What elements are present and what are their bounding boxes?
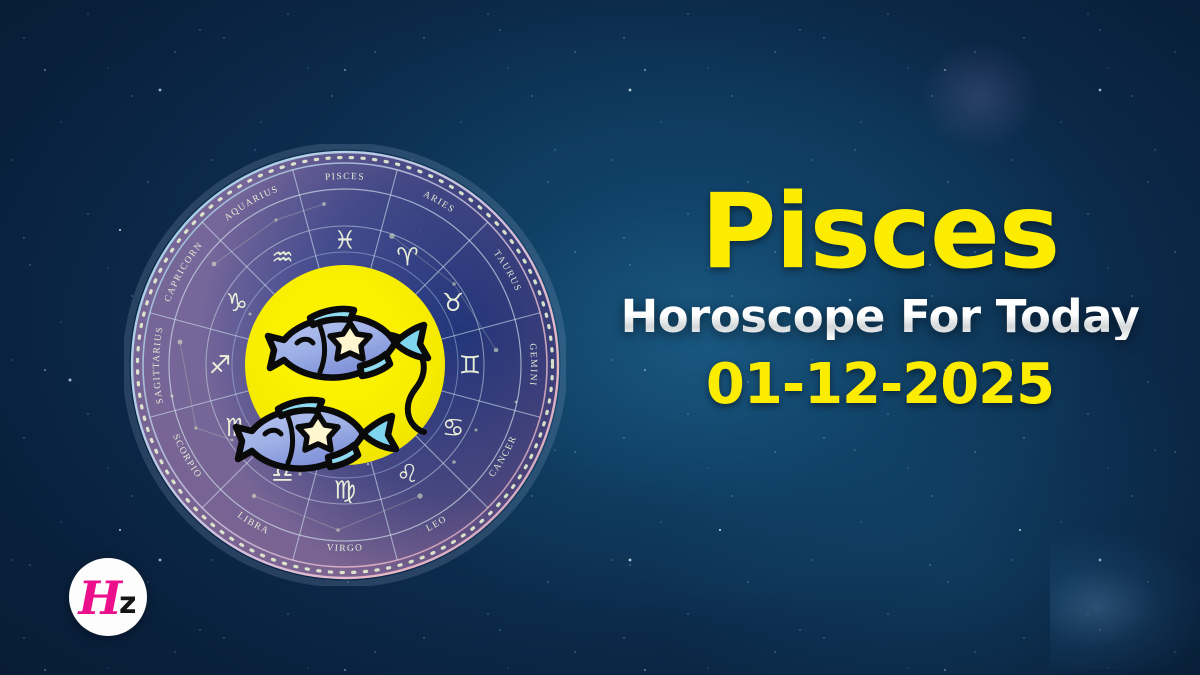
wheel-sign-glyph-aquarius: ♒: [271, 242, 293, 271]
page-title: Pisces: [600, 180, 1160, 285]
hz-logo[interactable]: Hz: [69, 558, 147, 636]
wheel-sign-glyph-pisces: ♓: [334, 226, 356, 255]
wheel-sign-glyph-capricorn: ♑: [226, 288, 248, 317]
banner-date: 01-12-2025: [600, 356, 1160, 415]
wheel-sign-glyph-virgo: ♍: [334, 476, 356, 505]
banner-text-block: Pisces Horoscope For Today 01-12-2025: [600, 180, 1160, 415]
wheel-sign-glyph-cancer: ♋: [442, 413, 464, 442]
wheel-sign-glyph-sagittarius: ♐: [209, 351, 231, 380]
wheel-sign-glyph-taurus: ♉: [442, 288, 464, 317]
wheel-sign-label-gemini: GEMINI: [527, 343, 538, 387]
logo-letter-h: H: [79, 575, 122, 621]
wheel-sign-label-virgo: VIRGO: [326, 543, 364, 554]
wheel-sign-label-pisces: PISCES: [325, 172, 366, 183]
logo-letter-z: z: [119, 589, 136, 619]
wheel-sign-glyph-leo: ♌: [396, 459, 418, 488]
wheel-sign-glyph-gemini: ♊: [459, 351, 481, 380]
zodiac-wheel-graphic: PISCESARIESTAURUSGEMINICANCERLEOVIRGOLIB…: [124, 144, 566, 586]
zodiac-wheel: PISCESARIESTAURUSGEMINICANCERLEOVIRGOLIB…: [124, 144, 566, 586]
wheel-sign-glyph-aries: ♈: [396, 242, 418, 271]
banner-subtitle: Horoscope For Today: [600, 293, 1160, 340]
banner-canvas: PISCESARIESTAURUSGEMINICANCERLEOVIRGOLIB…: [0, 0, 1200, 675]
